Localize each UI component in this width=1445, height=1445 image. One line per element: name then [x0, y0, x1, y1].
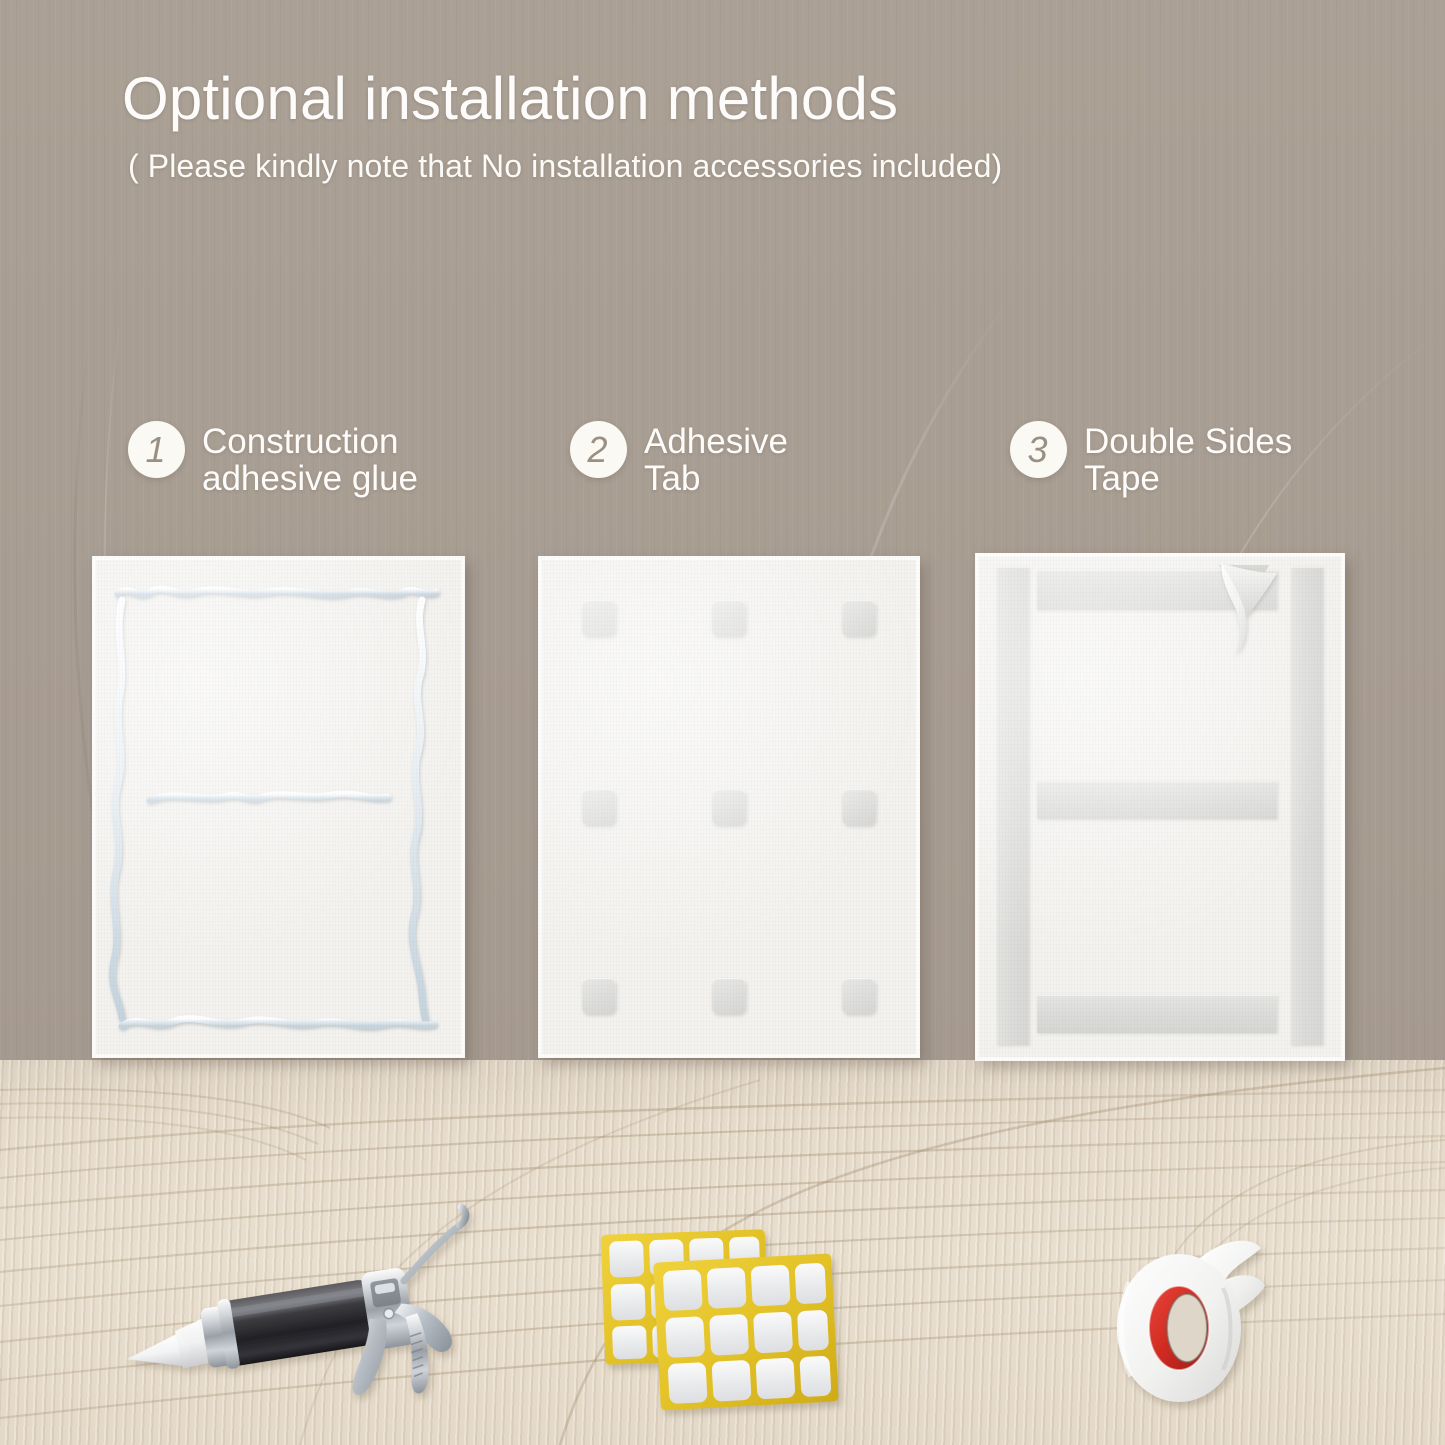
- infographic-canvas: Optional installation methods ( Please k…: [0, 0, 1445, 1445]
- step-label-3: Double Sides Tape: [1084, 421, 1292, 498]
- step-heading-1: 1 Construction adhesive glue: [128, 421, 418, 498]
- step-badge-1: 1: [128, 421, 185, 478]
- step-heading-3: 3 Double Sides Tape: [1010, 421, 1292, 498]
- tape-peeled-corner-icon: [1197, 559, 1307, 671]
- page-title: Optional installation methods: [122, 64, 898, 133]
- adhesive-tab-panel: [538, 556, 920, 1058]
- adhesive-tab-grid: [538, 556, 920, 1058]
- double-sided-tape-roll: [1105, 1232, 1320, 1417]
- adhesive-tab: [712, 978, 746, 1014]
- adhesive-tab: [582, 978, 616, 1014]
- caulking-gun-illustration: [118, 1228, 478, 1433]
- glue-bead-pattern: [92, 556, 465, 1058]
- step-label-2: Adhesive Tab: [644, 421, 788, 498]
- adhesive-tab: [712, 789, 746, 825]
- adhesive-tab-sheets: [595, 1228, 860, 1433]
- caulking-gun: [118, 1228, 478, 1433]
- tape-strip-horizontal-middle: [1037, 781, 1277, 819]
- step-badge-2: 2: [570, 421, 627, 478]
- double-sided-tape-panel: [975, 553, 1345, 1061]
- adhesive-tab: [582, 600, 616, 636]
- page-subtitle: ( Please kindly note that No installatio…: [128, 148, 1002, 185]
- step-heading-2: 2 Adhesive Tab: [570, 421, 788, 498]
- glue-bead-panel: [92, 556, 465, 1058]
- adhesive-tab: [712, 600, 746, 636]
- tape-roll-illustration: [1105, 1232, 1320, 1417]
- tape-strip-horizontal-bottom: [1037, 995, 1277, 1033]
- adhesive-tab: [842, 600, 876, 636]
- adhesive-tab: [842, 789, 876, 825]
- step-label-1: Construction adhesive glue: [202, 421, 418, 498]
- tape-layout: [975, 553, 1345, 1061]
- adhesive-tab-sheets-illustration: [595, 1228, 860, 1433]
- tape-strip-vertical-left: [997, 567, 1029, 1045]
- step-badge-3: 3: [1010, 421, 1067, 478]
- adhesive-tab: [842, 978, 876, 1014]
- adhesive-tab: [582, 789, 616, 825]
